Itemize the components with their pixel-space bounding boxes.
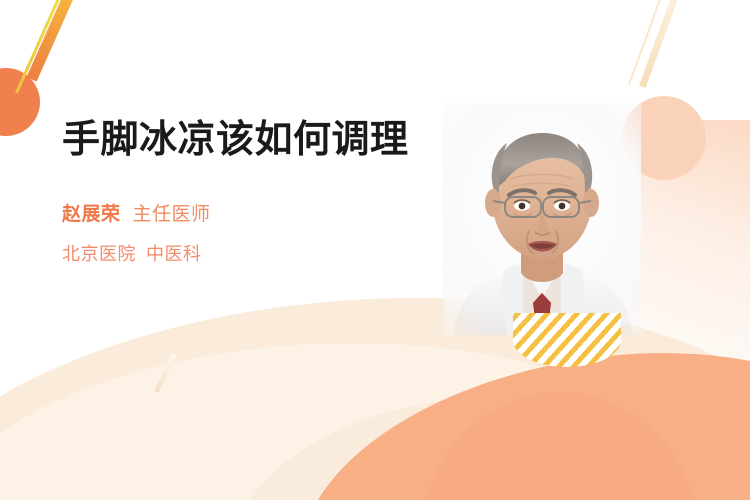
- salmon-wave-decoration: [280, 324, 750, 500]
- doctor-portrait: [443, 103, 641, 335]
- cream-diagonal-stripe-decoration: [639, 0, 684, 88]
- hospital-name: 北京医院: [62, 244, 136, 265]
- cream-diagonal-stripe-thin-decoration: [628, 0, 666, 85]
- doctor-byline: 赵展荣主任医师: [62, 205, 412, 225]
- orange-diagonal-stripe-decoration: [27, 0, 81, 82]
- doctor-title: 主任医师: [133, 203, 211, 225]
- doctor-portrait-image: [443, 103, 641, 335]
- cream-diagonal-stripe-bottom-decoration: [154, 353, 177, 393]
- department-name: 中医科: [146, 244, 202, 265]
- cover-text-block: 手脚冰凉该如何调理 赵展荣主任医师 北京医院中医科: [62, 118, 412, 266]
- yellow-diagonal-stripe-decoration: [15, 0, 66, 94]
- article-cover-card: 手脚冰凉该如何调理 赵展荣主任医师 北京医院中医科: [0, 0, 750, 500]
- orange-circle-decoration: [0, 68, 40, 136]
- salmon-wave-soft-decoration: [215, 373, 706, 500]
- page-title: 手脚冰凉该如何调理: [62, 118, 412, 161]
- doctor-name: 赵展荣: [62, 203, 121, 225]
- doctor-affiliation: 北京医院中医科: [62, 240, 412, 266]
- striped-halfdisc-decoration: [513, 313, 621, 367]
- salmon-wave-lobe-decoration: [420, 392, 700, 500]
